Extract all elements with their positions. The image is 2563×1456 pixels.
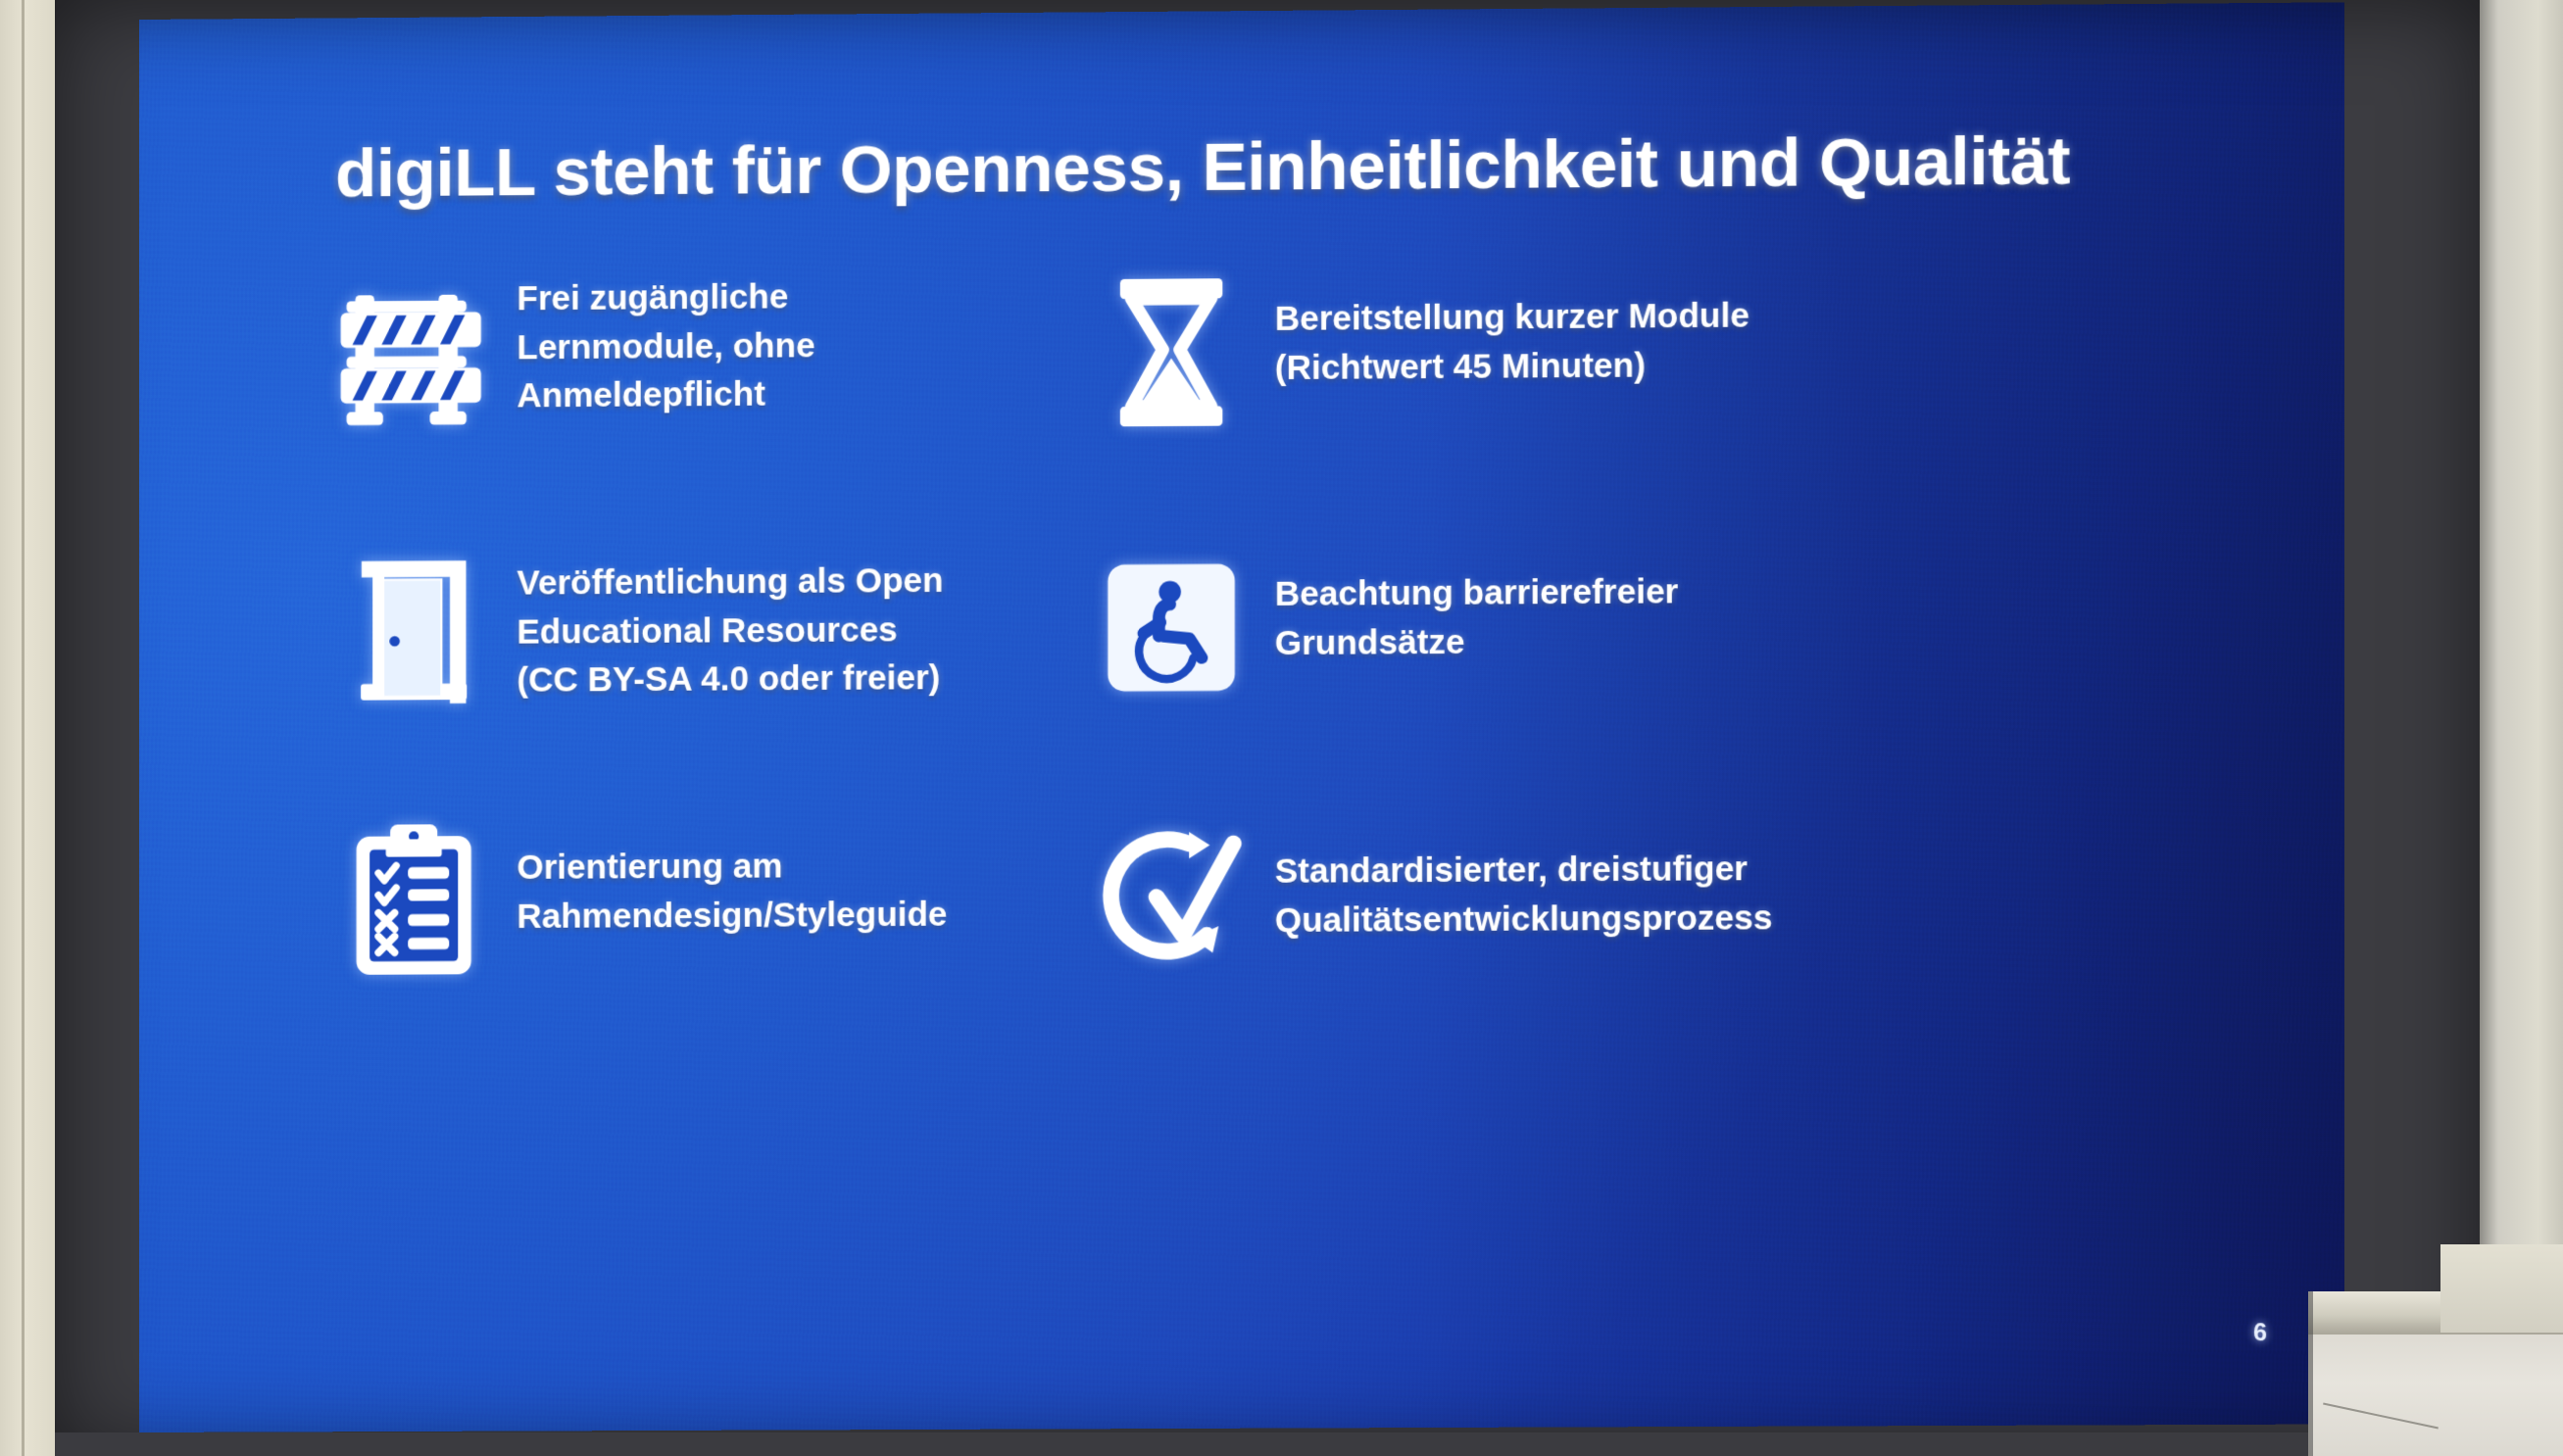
wall-seam xyxy=(22,0,25,1456)
wall-strip-right xyxy=(2480,0,2563,1456)
screen-frame-bottom xyxy=(55,1432,2480,1456)
projected-slide-photo: digiLL steht für Openness, Einheitlichke… xyxy=(0,0,2563,1456)
flipchart-edge xyxy=(2308,1291,2313,1456)
wall-strip-left xyxy=(0,0,55,1456)
flipchart-back-panel xyxy=(2440,1244,2563,1333)
flipchart-paper xyxy=(2308,1335,2563,1456)
screen-vignette xyxy=(55,0,2480,1456)
flipchart-crease xyxy=(2323,1403,2439,1430)
